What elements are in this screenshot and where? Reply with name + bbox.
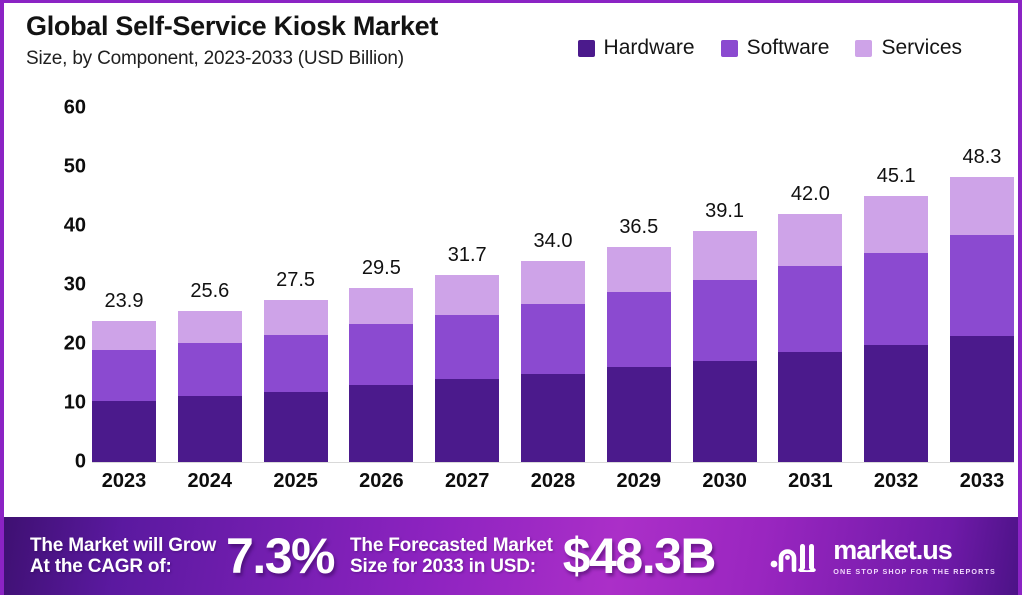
chart-subtitle: Size, by Component, 2023-2033 (USD Billi…: [26, 48, 438, 70]
bar-total-label: 31.7: [448, 244, 487, 267]
x-axis-tick-2024: 2024: [178, 470, 242, 493]
bar-segment-software[interactable]: [607, 292, 671, 368]
bar-segment-software[interactable]: [178, 343, 242, 396]
forecast-size-caption-line2: Size for 2033 in USD:: [350, 556, 553, 577]
bar-segment-hardware[interactable]: [178, 396, 242, 462]
bar-segment-software[interactable]: [349, 324, 413, 385]
bar-segment-hardware[interactable]: [264, 392, 328, 462]
bar-segment-software[interactable]: [521, 304, 585, 374]
forecast-size-caption: The Forecasted Market Size for 2033 in U…: [350, 535, 553, 578]
bar-segment-software[interactable]: [864, 253, 928, 346]
x-axis-tick-2029: 2029: [607, 470, 671, 493]
bar-total-label: 34.0: [534, 230, 573, 253]
x-axis-tick-2026: 2026: [349, 470, 413, 493]
y-axis-tick: 50: [64, 156, 86, 179]
x-axis-tick-2033: 2033: [950, 470, 1014, 493]
cagr-caption-line2: At the CAGR of:: [30, 556, 216, 577]
bar-segment-software[interactable]: [778, 266, 842, 353]
title-block: Global Self-Service Kiosk Market Size, b…: [26, 11, 438, 70]
bar-group-2031[interactable]: 42.0: [778, 95, 842, 462]
legend-label-software: Software: [747, 36, 830, 60]
bar-group-2025[interactable]: 27.5: [264, 95, 328, 462]
bar-segment-software[interactable]: [950, 235, 1014, 336]
cagr-caption: The Market will Grow At the CAGR of:: [30, 535, 216, 578]
footer-banner: The Market will Grow At the CAGR of: 7.3…: [0, 517, 1022, 595]
bar-segment-hardware[interactable]: [92, 401, 156, 462]
bar-segment-software[interactable]: [264, 335, 328, 392]
x-axis: 2023202420252026202720282029203020312032…: [92, 470, 1014, 493]
legend-item-software: Software: [721, 36, 830, 60]
y-axis-tick: 0: [75, 451, 86, 474]
bar-segment-hardware[interactable]: [521, 374, 585, 463]
bar-segment-hardware[interactable]: [950, 336, 1014, 462]
bar-segment-hardware[interactable]: [435, 379, 499, 462]
bar-total-label: 27.5: [276, 269, 315, 292]
bar-segment-services[interactable]: [264, 300, 328, 335]
x-axis-tick-2031: 2031: [778, 470, 842, 493]
bar-segment-services[interactable]: [778, 214, 842, 265]
legend-item-hardware: Hardware: [578, 36, 695, 60]
x-axis-tick-2023: 2023: [92, 470, 156, 493]
legend-item-services: Services: [855, 36, 962, 60]
bar-segment-services[interactable]: [864, 196, 928, 253]
bar-total-label: 23.9: [105, 290, 144, 313]
bar-group-2023[interactable]: 23.9: [92, 95, 156, 462]
bar-total-label: 25.6: [190, 280, 229, 303]
chart-title: Global Self-Service Kiosk Market: [26, 11, 438, 42]
y-axis-tick: 60: [64, 97, 86, 120]
legend-label-hardware: Hardware: [604, 36, 695, 60]
brand-text: market.us ONE STOP SHOP FOR THE REPORTS: [833, 537, 996, 576]
bar-segment-services[interactable]: [521, 261, 585, 303]
bar-group-2024[interactable]: 25.6: [178, 95, 242, 462]
x-axis-tick-2028: 2028: [521, 470, 585, 493]
cagr-stat: The Market will Grow At the CAGR of: 7.3…: [30, 527, 334, 585]
chart-legend: Hardware Software Services: [578, 36, 962, 60]
bar-total-label: 42.0: [791, 183, 830, 206]
bar-segment-software[interactable]: [693, 280, 757, 361]
y-axis-tick: 10: [64, 392, 86, 415]
bar-segment-services[interactable]: [607, 247, 671, 292]
brand-tagline: ONE STOP SHOP FOR THE REPORTS: [833, 567, 996, 576]
chart-infographic: Global Self-Service Kiosk Market Size, b…: [0, 0, 1022, 595]
bar-segment-hardware[interactable]: [693, 361, 757, 462]
x-axis-tick-2027: 2027: [435, 470, 499, 493]
y-axis: 0102030405060: [34, 95, 86, 475]
bar-total-label: 29.5: [362, 257, 401, 280]
square-swatch-icon: [578, 40, 595, 57]
chart-header: Global Self-Service Kiosk Market Size, b…: [4, 3, 1022, 95]
forecast-size-stat: The Forecasted Market Size for 2033 in U…: [350, 527, 715, 585]
bar-segment-hardware[interactable]: [864, 345, 928, 462]
brand-name: market.us: [833, 537, 996, 564]
x-axis-baseline: [92, 462, 1014, 463]
bar-group-2027[interactable]: 31.7: [435, 95, 499, 462]
cagr-caption-line1: The Market will Grow: [30, 535, 216, 556]
bar-segment-services[interactable]: [435, 275, 499, 315]
x-axis-tick-2032: 2032: [864, 470, 928, 493]
legend-label-services: Services: [881, 36, 962, 60]
y-axis-tick: 30: [64, 274, 86, 297]
forecast-size-caption-line1: The Forecasted Market: [350, 535, 553, 556]
square-swatch-icon: [721, 40, 738, 57]
bar-segment-services[interactable]: [92, 321, 156, 350]
forecast-size-value: $48.3B: [563, 527, 715, 585]
bar-segment-software[interactable]: [92, 350, 156, 401]
bar-group-2033[interactable]: 48.3: [950, 95, 1014, 462]
bar-segment-services[interactable]: [178, 311, 242, 343]
bar-total-label: 36.5: [619, 216, 658, 239]
bar-group-2026[interactable]: 29.5: [349, 95, 413, 462]
bar-segment-services[interactable]: [349, 288, 413, 324]
bar-group-2028[interactable]: 34.0: [521, 95, 585, 462]
bar-total-label: 45.1: [877, 165, 916, 188]
bar-series-container: 23.925.627.529.531.734.036.539.142.045.1…: [92, 95, 1014, 462]
bar-segment-services[interactable]: [950, 177, 1014, 235]
bar-segment-hardware[interactable]: [349, 385, 413, 462]
square-swatch-icon: [855, 40, 872, 57]
bar-total-label: 48.3: [963, 146, 1002, 169]
bar-segment-services[interactable]: [693, 231, 757, 279]
x-axis-tick-2025: 2025: [264, 470, 328, 493]
y-axis-tick: 20: [64, 333, 86, 356]
bar-total-label: 39.1: [705, 200, 744, 223]
x-axis-tick-2030: 2030: [693, 470, 757, 493]
brand-logo[interactable]: market.us ONE STOP SHOP FOR THE REPORTS: [770, 537, 1008, 576]
bar-group-2032[interactable]: 45.1: [864, 95, 928, 462]
market-us-logo-icon: [770, 540, 824, 572]
y-axis-tick: 40: [64, 215, 86, 238]
plot-area: 0102030405060 23.925.627.529.531.734.036…: [4, 95, 1022, 520]
cagr-value: 7.3%: [226, 527, 334, 585]
bar-segment-hardware[interactable]: [607, 367, 671, 462]
bar-group-2030[interactable]: 39.1: [693, 95, 757, 462]
bar-segment-hardware[interactable]: [778, 352, 842, 462]
bar-segment-software[interactable]: [435, 315, 499, 379]
bar-group-2029[interactable]: 36.5: [607, 95, 671, 462]
